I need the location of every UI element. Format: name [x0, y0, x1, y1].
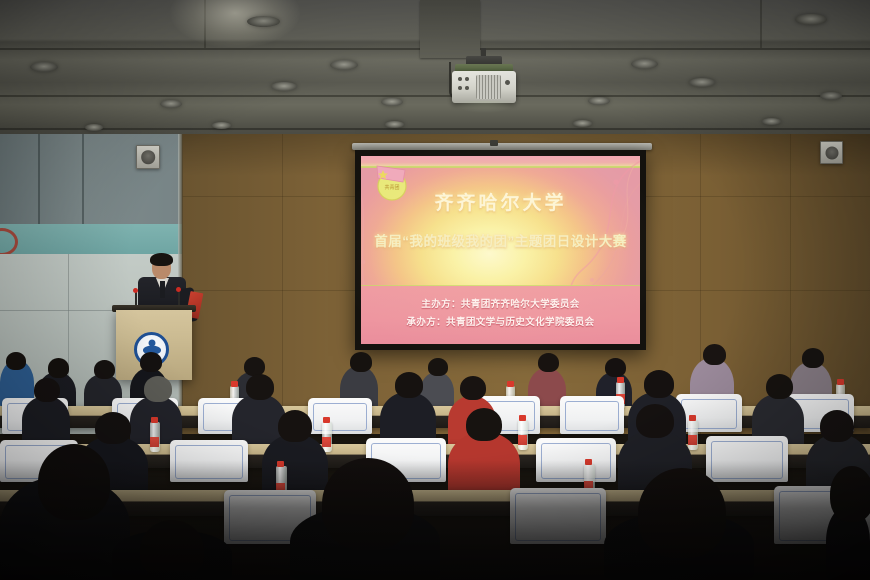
- downlight: [573, 120, 592, 127]
- wall-panel-seam: [282, 134, 283, 434]
- audience-head-foreground: [830, 466, 870, 522]
- projector-vent-grille: [476, 75, 501, 99]
- projector-light-spill: [450, 101, 520, 113]
- audience-head: [95, 412, 131, 444]
- bottle-label: [519, 437, 526, 442]
- bottle-label: [323, 439, 330, 444]
- downlight: [30, 62, 58, 72]
- downlight: [689, 78, 715, 87]
- audience-head: [766, 374, 793, 399]
- slide-title: 齐齐哈尔大学: [361, 188, 640, 215]
- audience-head-foreground: [638, 468, 726, 558]
- projector-lens: [505, 80, 510, 85]
- audience-chair: [510, 488, 606, 544]
- audience-head-foreground: [38, 444, 110, 520]
- slide-organizer-line: 主办方：共青团齐齐哈尔大学委员会: [361, 296, 640, 310]
- audience-chair: [706, 436, 788, 482]
- audience-chair: [170, 440, 248, 482]
- audience-head-foreground: [322, 458, 414, 550]
- ceiling-seam: [0, 128, 870, 130]
- downlight: [247, 16, 280, 27]
- projection-screen: 共青团 齐齐哈尔大学 首届“我的班级我的团”主题团日设计大赛 主办方：共青团齐齐…: [355, 150, 646, 350]
- audience-member: [262, 434, 328, 498]
- projector-control-knob: [465, 77, 469, 81]
- audience-head: [34, 378, 60, 402]
- projector-control-knob: [458, 77, 462, 81]
- downlight: [385, 121, 404, 128]
- audience-head: [94, 360, 115, 379]
- downlight: [762, 118, 781, 125]
- audience-head: [350, 352, 372, 372]
- bottle-label: [151, 439, 158, 444]
- auditorium-photo: 共青团 齐齐哈尔大学 首届“我的班级我的团”主题团日设计大赛 主办方：共青团齐齐…: [0, 0, 870, 580]
- slide-host-line: 承办方：共青团文学与历史文化学院委员会: [361, 314, 640, 328]
- audience-head: [802, 348, 824, 368]
- downlight: [588, 97, 610, 105]
- audience-chair: [560, 396, 624, 434]
- projector-control-knob: [465, 86, 469, 90]
- wall-speaker-right: [820, 141, 843, 164]
- screen-roller-housing: [352, 143, 652, 150]
- audience-head: [636, 404, 674, 438]
- left-wall-seam: [38, 134, 40, 224]
- audience-chair: [536, 438, 616, 482]
- audience-head-foreground: [140, 520, 204, 580]
- downlight: [820, 92, 842, 100]
- audience-member: [22, 396, 70, 446]
- audience-head: [140, 352, 162, 372]
- audience-head: [460, 376, 486, 400]
- audience-head: [395, 372, 423, 398]
- ceiling-bulkhead: [420, 0, 480, 58]
- audience-head: [278, 410, 312, 442]
- audience-head: [428, 358, 448, 376]
- audience-chair: [308, 398, 372, 434]
- water-bottle: [518, 420, 528, 450]
- left-wall-seam: [82, 134, 84, 224]
- downlight: [271, 82, 297, 91]
- left-wall-accent-band: [0, 224, 182, 254]
- audience-head: [6, 352, 26, 370]
- slide-surface: 共青团 齐齐哈尔大学 首届“我的班级我的团”主题团日设计大赛 主办方：共青团齐齐…: [361, 156, 640, 344]
- water-bottle: [322, 422, 332, 452]
- wall-speaker-left: [136, 145, 160, 169]
- audience-head-gray-hair: [144, 376, 172, 402]
- downlight: [160, 100, 182, 108]
- projector-control-knob: [458, 86, 462, 90]
- audience-head: [466, 408, 502, 441]
- downlight: [85, 124, 103, 131]
- audience-head: [538, 353, 559, 372]
- microphone-head-right: [176, 287, 181, 292]
- microphone-head-left: [133, 288, 138, 293]
- downlight: [631, 59, 658, 69]
- presenter-hair: [150, 253, 173, 266]
- audience-member: [448, 432, 520, 498]
- audience-head: [820, 410, 854, 442]
- downlight: [381, 98, 403, 106]
- ceiling-seam: [760, 0, 762, 48]
- downlight: [212, 122, 231, 129]
- ceiling-seam: [0, 95, 870, 97]
- water-bottle: [688, 420, 698, 450]
- water-bottle: [150, 422, 160, 452]
- screen-roller-knob: [490, 140, 498, 146]
- slide-subtitle: 首届“我的班级我的团”主题团日设计大赛: [361, 230, 640, 250]
- ceiling-seam: [204, 0, 206, 48]
- downlight: [795, 14, 827, 25]
- audience-head: [703, 344, 726, 365]
- audience-head: [605, 358, 626, 377]
- crest-star: [148, 339, 155, 346]
- bottle-label: [689, 437, 696, 442]
- audience-head: [246, 374, 274, 400]
- desk-row: [0, 490, 870, 516]
- downlight: [330, 60, 358, 70]
- presenter-tie: [160, 281, 165, 298]
- audience-head: [644, 370, 674, 398]
- audience-head: [48, 358, 69, 378]
